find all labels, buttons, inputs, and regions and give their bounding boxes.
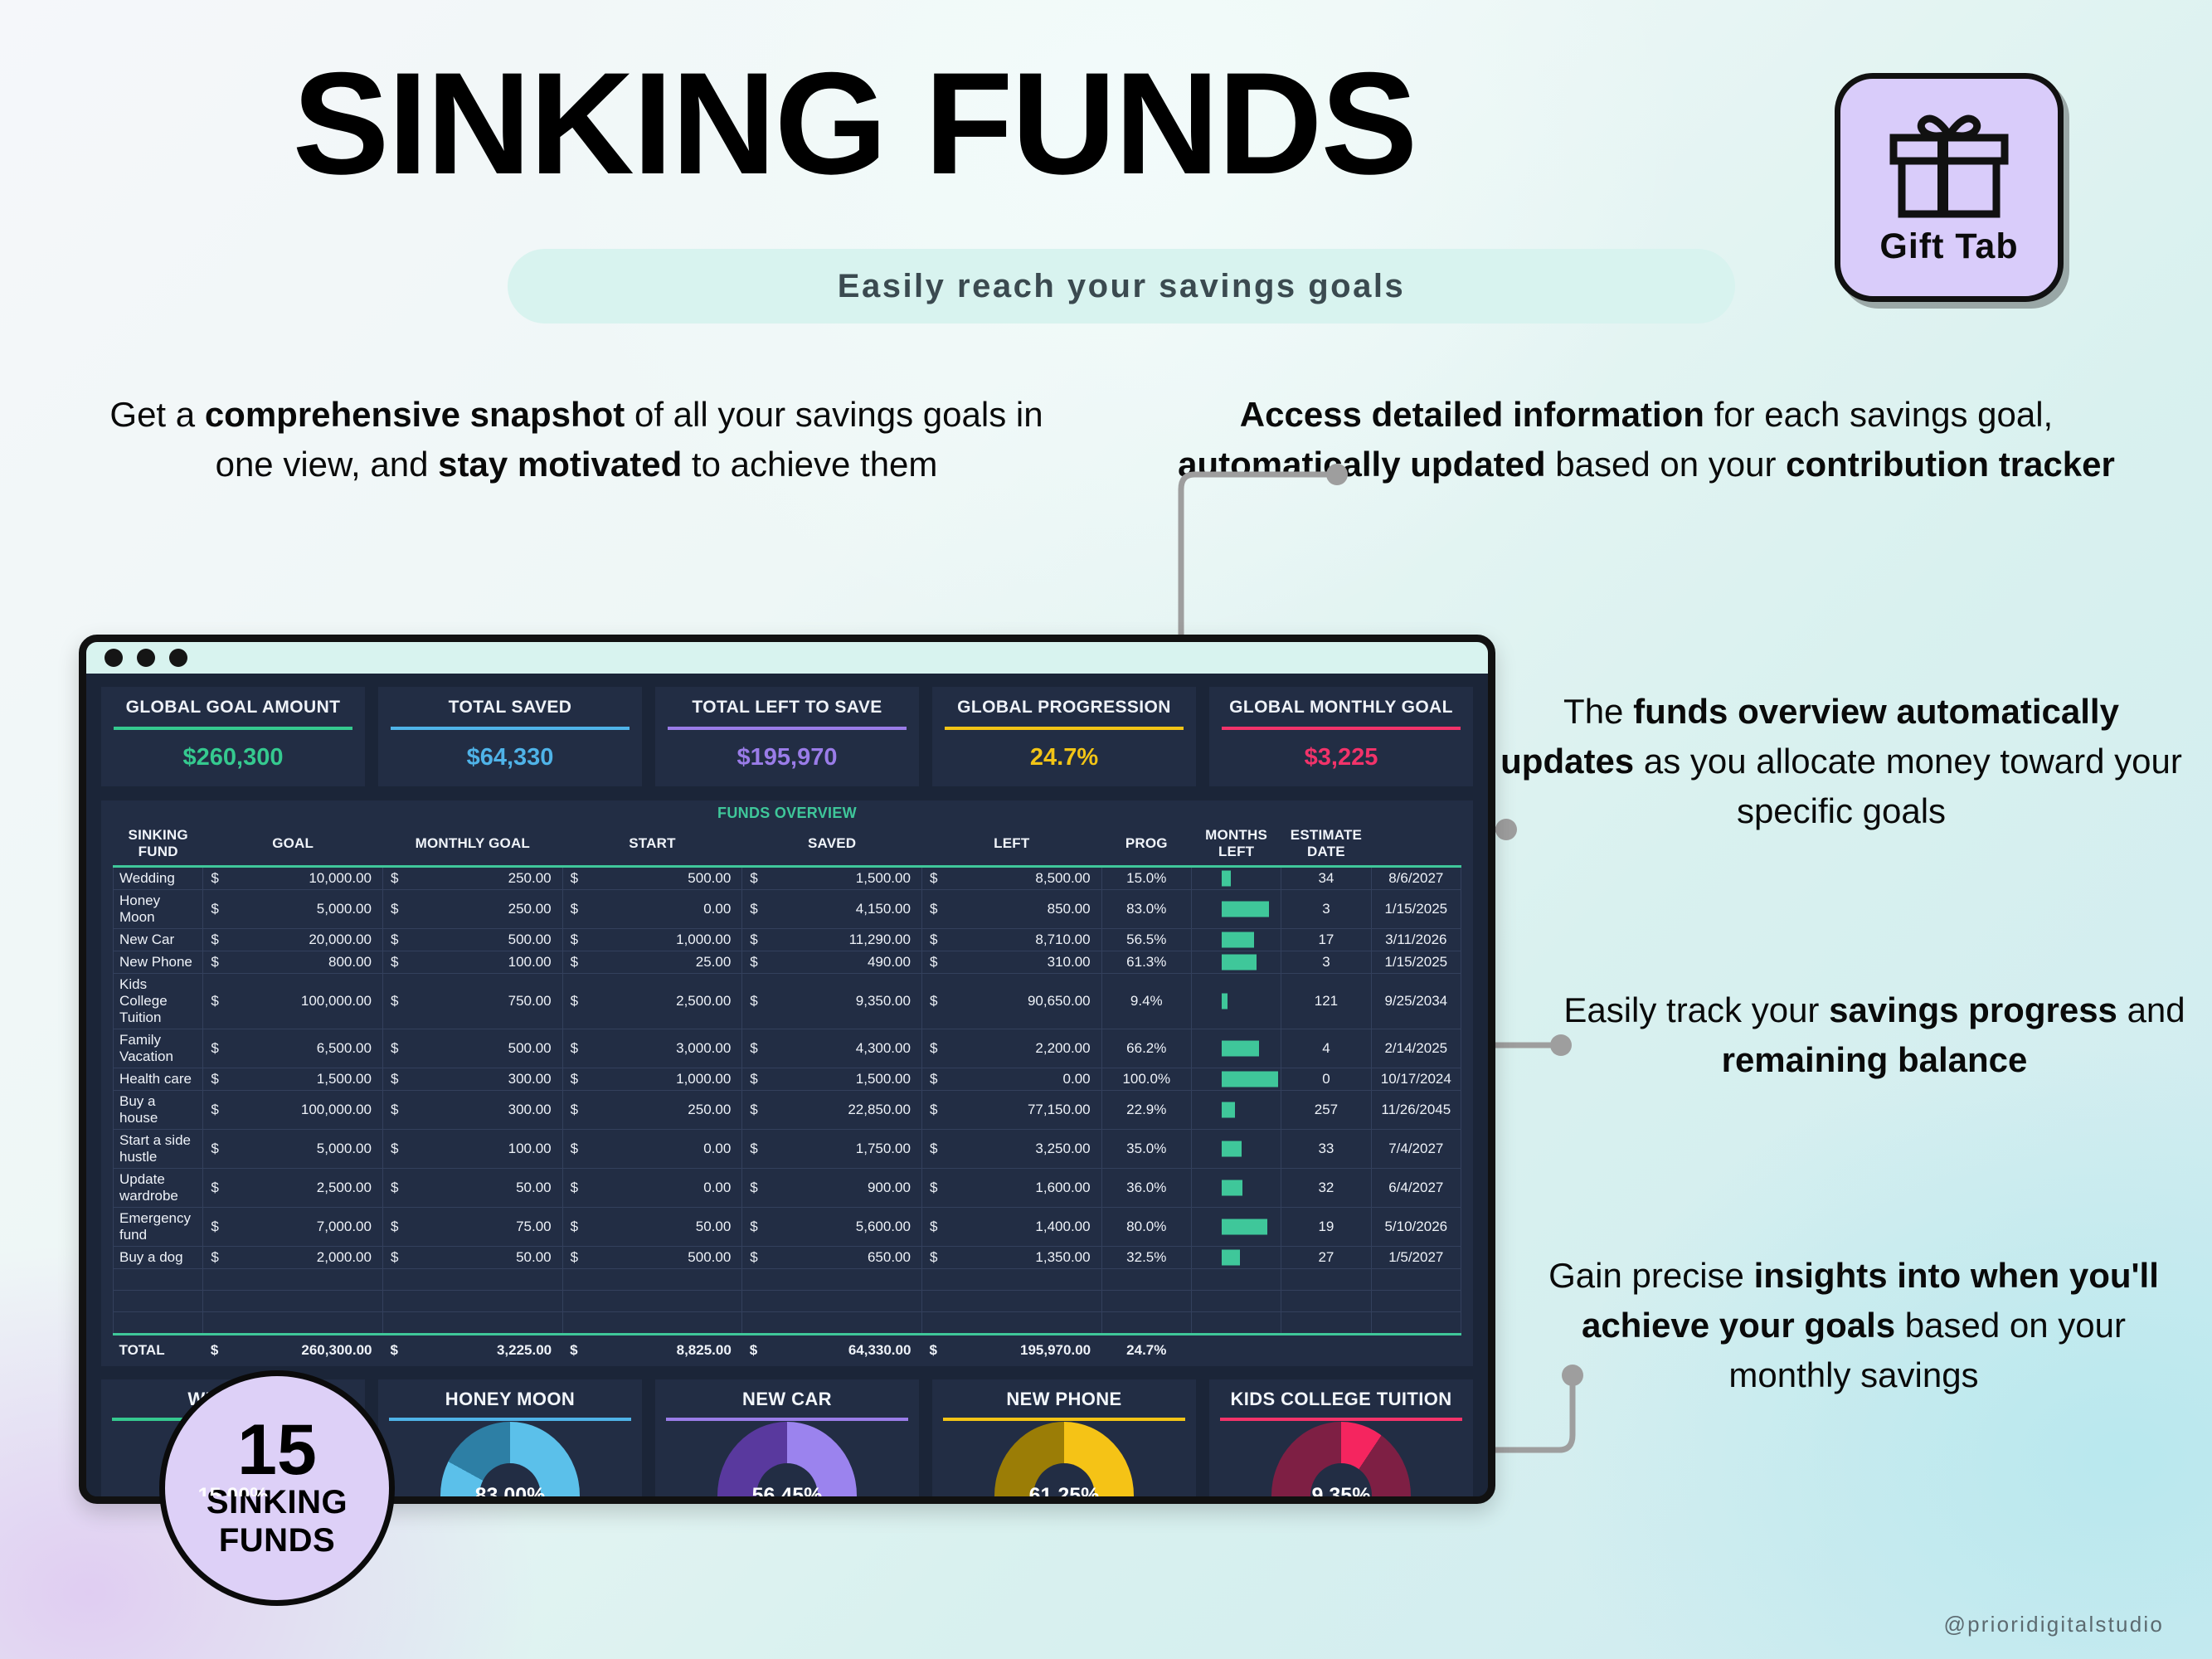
cell-value: 1,000.00 xyxy=(652,1068,741,1091)
currency-symbol: $ xyxy=(921,974,1011,1029)
cell-prog-pct: 32.5% xyxy=(1101,1247,1191,1269)
cell-value: 1,600.00 xyxy=(1012,1169,1101,1208)
total-value: 64,330.00 xyxy=(832,1335,921,1362)
currency-symbol: $ xyxy=(742,1335,832,1362)
currency-symbol: $ xyxy=(742,974,832,1029)
cell-value: 490.00 xyxy=(832,951,921,974)
col-header: GOAL xyxy=(203,824,383,867)
kpi-card-2: TOTAL LEFT TO SAVE$195,970 xyxy=(655,687,919,786)
currency-symbol: $ xyxy=(742,1068,832,1091)
currency-symbol: $ xyxy=(203,1029,293,1068)
currency-symbol: $ xyxy=(562,1130,652,1169)
prog-bar xyxy=(1222,902,1268,917)
cell-value: 2,500.00 xyxy=(652,974,741,1029)
cell-value: 2,000.00 xyxy=(293,1247,382,1269)
donut-card-1: HONEY MOON83.00%GOAL AMOUNT$5,000.00SAVE… xyxy=(378,1379,642,1504)
cell-prog-pct: 9.4% xyxy=(1101,974,1191,1029)
currency-symbol: $ xyxy=(562,1208,652,1247)
currency-symbol: $ xyxy=(382,890,472,929)
donut-chart: 15.00% xyxy=(101,1421,365,1504)
donut-chart: 56.45% xyxy=(655,1421,919,1504)
cell-fund-name: Health care xyxy=(114,1068,203,1091)
kpi-card-1: TOTAL SAVED$64,330 xyxy=(378,687,642,786)
cell-estimate-date: 10/17/2024 xyxy=(1371,1068,1461,1091)
currency-symbol: $ xyxy=(562,890,652,929)
currency-symbol: $ xyxy=(562,1169,652,1208)
kpi-label: GLOBAL GOAL AMOUNT xyxy=(101,687,365,727)
cell-value: 800.00 xyxy=(293,951,382,974)
cell-value: 0.00 xyxy=(1012,1068,1101,1091)
currency-symbol: $ xyxy=(921,1029,1011,1068)
currency-symbol: $ xyxy=(203,1208,293,1247)
cell-fund-name: Honey Moon xyxy=(114,890,203,929)
cell-fund-name: Family Vacation xyxy=(114,1029,203,1068)
subtitle-text: Easily reach your savings goals xyxy=(838,268,1405,305)
donut-chart: 83.00% xyxy=(378,1421,642,1504)
cell-value: 25.00 xyxy=(652,951,741,974)
cell-value: 300.00 xyxy=(473,1091,562,1130)
currency-symbol: $ xyxy=(921,1335,1011,1362)
donut-percent-label: 83.00% xyxy=(378,1421,642,1504)
currency-symbol: $ xyxy=(921,1208,1011,1247)
cell-months-left: 33 xyxy=(1281,1130,1371,1169)
gift-icon xyxy=(1889,108,2010,225)
window-titlebar xyxy=(86,642,1488,674)
cell-prog-bar xyxy=(1191,951,1281,974)
donut-percent-label: 15.00% xyxy=(101,1421,365,1504)
funds-table-body: Wedding$10,000.00$250.00$500.00$1,500.00… xyxy=(114,867,1461,1362)
currency-symbol: $ xyxy=(742,951,832,974)
cell-fund-name: Wedding xyxy=(114,867,203,890)
table-row-empty[interactable] xyxy=(114,1291,1461,1312)
donut-percent-label: 56.45% xyxy=(655,1421,919,1504)
cell-months-left: 3 xyxy=(1281,890,1371,929)
total-value: 3,225.00 xyxy=(473,1335,562,1362)
col-header: LEFT xyxy=(921,824,1101,867)
cell-value: 1,400.00 xyxy=(1012,1208,1101,1247)
kpi-value: $260,300 xyxy=(101,730,365,786)
cell-prog-pct: 35.0% xyxy=(1101,1130,1191,1169)
prog-bar xyxy=(1222,932,1253,948)
cell-value: 250.00 xyxy=(473,890,562,929)
kpi-row: GLOBAL GOAL AMOUNT$260,300TOTAL SAVED$64… xyxy=(101,687,1473,786)
cell-prog-pct: 15.0% xyxy=(1101,867,1191,890)
cell-prog-pct: 83.0% xyxy=(1101,890,1191,929)
cell-value: 0.00 xyxy=(652,890,741,929)
currency-symbol: $ xyxy=(742,1208,832,1247)
donut-chart: 61.25% xyxy=(932,1421,1196,1504)
cell-value: 2,200.00 xyxy=(1012,1029,1101,1068)
table-row[interactable]: New Phone$800.00$100.00$25.00$490.00$310… xyxy=(114,951,1461,974)
cell-fund-name: Kids College Tuition xyxy=(114,974,203,1029)
currency-symbol: $ xyxy=(203,1130,293,1169)
cell-value: 75.00 xyxy=(473,1208,562,1247)
currency-symbol: $ xyxy=(921,867,1011,890)
currency-symbol: $ xyxy=(562,1091,652,1130)
currency-symbol: $ xyxy=(382,867,472,890)
kpi-label: TOTAL SAVED xyxy=(378,687,642,727)
currency-symbol: $ xyxy=(562,867,652,890)
cell-prog-pct: 61.3% xyxy=(1101,951,1191,974)
cell-months-left: 27 xyxy=(1281,1247,1371,1269)
kpi-card-3: GLOBAL PROGRESSION24.7% xyxy=(932,687,1196,786)
cell-estimate-date: 1/15/2025 xyxy=(1371,890,1461,929)
callout-insights: Gain precise insights into when you'll a… xyxy=(1518,1251,2190,1400)
currency-symbol: $ xyxy=(203,974,293,1029)
col-header: MONTHS LEFT xyxy=(1191,824,1281,867)
cell-value: 11,290.00 xyxy=(832,929,921,951)
cell-prog-bar xyxy=(1191,1247,1281,1269)
cell-fund-name: Emergency fund xyxy=(114,1208,203,1247)
donut-card-2: NEW CAR56.45%GOAL AMOUNT$20,000.00SAVED$… xyxy=(655,1379,919,1504)
currency-symbol: $ xyxy=(921,1130,1011,1169)
currency-symbol: $ xyxy=(382,1208,472,1247)
currency-symbol: $ xyxy=(742,1130,832,1169)
cell-value: 1,350.00 xyxy=(1012,1247,1101,1269)
col-header: MONTHLY GOAL xyxy=(382,824,562,867)
cell-months-left: 34 xyxy=(1281,867,1371,890)
currency-symbol: $ xyxy=(382,974,472,1029)
cell-prog-bar xyxy=(1191,1169,1281,1208)
cell-value: 500.00 xyxy=(473,1029,562,1068)
cell-estimate-date: 3/11/2026 xyxy=(1371,929,1461,951)
currency-symbol: $ xyxy=(742,1091,832,1130)
currency-symbol: $ xyxy=(562,974,652,1029)
count-line-2: FUNDS xyxy=(219,1522,335,1560)
funds-table-head: SINKING FUNDGOALMONTHLY GOALSTARTSAVEDLE… xyxy=(114,824,1461,867)
table-row[interactable]: Family Vacation$6,500.00$500.00$3,000.00… xyxy=(114,1029,1461,1068)
currency-symbol: $ xyxy=(382,1247,472,1269)
total-prog: 24.7% xyxy=(1101,1335,1191,1362)
cell-prog-bar xyxy=(1191,1091,1281,1130)
cell-value: 300.00 xyxy=(473,1068,562,1091)
cell-months-left: 121 xyxy=(1281,974,1371,1029)
table-row[interactable]: Kids College Tuition$100,000.00$750.00$2… xyxy=(114,974,1461,1029)
cell-estimate-date: 1/15/2025 xyxy=(1371,951,1461,974)
cell-months-left: 3 xyxy=(1281,951,1371,974)
cell-estimate-date: 2/14/2025 xyxy=(1371,1029,1461,1068)
cell-value: 5,600.00 xyxy=(832,1208,921,1247)
cell-prog-bar xyxy=(1191,1029,1281,1068)
cell-value: 500.00 xyxy=(652,867,741,890)
currency-symbol: $ xyxy=(382,1068,472,1091)
cell-value: 500.00 xyxy=(652,1247,741,1269)
cell-value: 750.00 xyxy=(473,974,562,1029)
cell-value: 4,300.00 xyxy=(832,1029,921,1068)
cell-fund-name: New Car xyxy=(114,929,203,951)
cell-value: 1,500.00 xyxy=(293,1068,382,1091)
currency-symbol: $ xyxy=(921,1068,1011,1091)
currency-symbol: $ xyxy=(203,890,293,929)
prog-bar xyxy=(1222,1219,1266,1235)
cell-estimate-date: 7/4/2027 xyxy=(1371,1130,1461,1169)
table-total-row: TOTAL$260,300.00$3,225.00$8,825.00$64,33… xyxy=(114,1335,1461,1362)
cell-value: 50.00 xyxy=(473,1169,562,1208)
donut-chart: 9.35% xyxy=(1209,1421,1473,1504)
donut-title: HONEY MOON xyxy=(378,1379,642,1418)
cell-prog-bar xyxy=(1191,867,1281,890)
currency-symbol: $ xyxy=(921,1091,1011,1130)
currency-symbol: $ xyxy=(203,867,293,890)
total-label: TOTAL xyxy=(114,1335,203,1362)
prog-bar xyxy=(1222,1102,1234,1118)
kpi-value: $64,330 xyxy=(378,730,642,786)
prog-bar xyxy=(1222,1250,1240,1266)
currency-symbol: $ xyxy=(562,1068,652,1091)
prog-bar xyxy=(1222,871,1230,887)
prog-bar xyxy=(1222,994,1227,1010)
cell-months-left: 257 xyxy=(1281,1091,1371,1130)
currency-symbol: $ xyxy=(562,1335,652,1362)
kpi-label: GLOBAL PROGRESSION xyxy=(932,687,1196,727)
cell-value: 1,500.00 xyxy=(832,1068,921,1091)
cell-value: 7,000.00 xyxy=(293,1208,382,1247)
callout-funds-overview: The funds overview automatically updates… xyxy=(1493,687,2190,836)
cell-prog-bar xyxy=(1191,890,1281,929)
cell-prog-pct: 22.9% xyxy=(1101,1091,1191,1130)
kpi-card-4: GLOBAL MONTHLY GOAL$3,225 xyxy=(1209,687,1473,786)
cell-estimate-date: 9/25/2034 xyxy=(1371,974,1461,1029)
table-row[interactable]: Honey Moon$5,000.00$250.00$0.00$4,150.00… xyxy=(114,890,1461,929)
cell-value: 250.00 xyxy=(473,867,562,890)
currency-symbol: $ xyxy=(382,929,472,951)
cell-value: 2,500.00 xyxy=(293,1169,382,1208)
currency-symbol: $ xyxy=(562,951,652,974)
prog-bar xyxy=(1222,1180,1242,1196)
currency-symbol: $ xyxy=(562,1247,652,1269)
cell-value: 1,750.00 xyxy=(832,1130,921,1169)
window-minimize-dot[interactable] xyxy=(137,649,155,667)
cell-months-left: 32 xyxy=(1281,1169,1371,1208)
donut-card-3: NEW PHONE61.25%GOAL AMOUNT$800.00SAVED$4… xyxy=(932,1379,1196,1504)
cell-prog-pct: 36.0% xyxy=(1101,1169,1191,1208)
cell-prog-bar xyxy=(1191,1068,1281,1091)
prog-bar xyxy=(1222,955,1256,971)
cell-fund-name: Buy a house xyxy=(114,1091,203,1130)
window-maximize-dot[interactable] xyxy=(169,649,187,667)
cell-estimate-date: 8/6/2027 xyxy=(1371,867,1461,890)
table-row[interactable]: Buy a house$100,000.00$300.00$250.00$22,… xyxy=(114,1091,1461,1130)
currency-symbol: $ xyxy=(203,1335,293,1362)
cell-value: 77,150.00 xyxy=(1012,1091,1101,1130)
currency-symbol: $ xyxy=(382,1130,472,1169)
currency-symbol: $ xyxy=(562,1029,652,1068)
currency-symbol: $ xyxy=(382,1091,472,1130)
cell-estimate-date: 5/10/2026 xyxy=(1371,1208,1461,1247)
currency-symbol: $ xyxy=(203,929,293,951)
cell-value: 8,500.00 xyxy=(1012,867,1101,890)
kpi-value: $3,225 xyxy=(1209,730,1473,786)
cell-prog-pct: 100.0% xyxy=(1101,1068,1191,1091)
cell-months-left: 0 xyxy=(1281,1068,1371,1091)
donut-percent-label: 9.35% xyxy=(1209,1421,1473,1504)
currency-symbol: $ xyxy=(382,951,472,974)
cell-prog-pct: 66.2% xyxy=(1101,1029,1191,1068)
funds-table: SINKING FUNDGOALMONTHLY GOALSTARTSAVEDLE… xyxy=(113,824,1461,1361)
cell-value: 20,000.00 xyxy=(293,929,382,951)
cell-estimate-date: 1/5/2027 xyxy=(1371,1247,1461,1269)
cell-value: 3,000.00 xyxy=(652,1029,741,1068)
cell-value: 22,850.00 xyxy=(832,1091,921,1130)
currency-symbol: $ xyxy=(203,951,293,974)
cell-value: 10,000.00 xyxy=(293,867,382,890)
currency-symbol: $ xyxy=(921,951,1011,974)
cell-prog-pct: 56.5% xyxy=(1101,929,1191,951)
currency-symbol: $ xyxy=(742,1247,832,1269)
donut-title: NEW CAR xyxy=(655,1379,919,1418)
cell-value: 250.00 xyxy=(652,1091,741,1130)
cell-prog-bar xyxy=(1191,1208,1281,1247)
callout-snapshot: Get a comprehensive snapshot of all your… xyxy=(108,390,1045,489)
cell-value: 4,150.00 xyxy=(832,890,921,929)
currency-symbol: $ xyxy=(382,1169,472,1208)
kpi-card-0: GLOBAL GOAL AMOUNT$260,300 xyxy=(101,687,365,786)
page-title: SINKING FUNDS xyxy=(0,51,1709,197)
cell-estimate-date: 6/4/2027 xyxy=(1371,1169,1461,1208)
cell-value: 500.00 xyxy=(473,929,562,951)
table-row[interactable]: Update wardrobe$2,500.00$50.00$0.00$900.… xyxy=(114,1169,1461,1208)
currency-symbol: $ xyxy=(921,929,1011,951)
window-close-dot[interactable] xyxy=(105,649,123,667)
col-header: PROG xyxy=(1101,824,1191,867)
cell-prog-bar xyxy=(1191,1130,1281,1169)
cell-prog-pct: 80.0% xyxy=(1101,1208,1191,1247)
currency-symbol: $ xyxy=(203,1169,293,1208)
kpi-value: 24.7% xyxy=(932,730,1196,786)
cell-value: 6,500.00 xyxy=(293,1029,382,1068)
cell-value: 5,000.00 xyxy=(293,890,382,929)
prog-bar xyxy=(1222,1072,1278,1087)
cell-value: 850.00 xyxy=(1012,890,1101,929)
cell-value: 0.00 xyxy=(652,1130,741,1169)
currency-symbol: $ xyxy=(562,929,652,951)
table-row[interactable]: Start a side hustle$5,000.00$100.00$0.00… xyxy=(114,1130,1461,1169)
cell-value: 0.00 xyxy=(652,1169,741,1208)
table-row[interactable]: Buy a dog$2,000.00$50.00$500.00$650.00$1… xyxy=(114,1247,1461,1269)
cell-prog-bar xyxy=(1191,974,1281,1029)
donut-percent-label: 61.25% xyxy=(932,1421,1196,1504)
table-row[interactable]: Health care$1,500.00$300.00$1,000.00$1,5… xyxy=(114,1068,1461,1091)
kpi-label: GLOBAL MONTHLY GOAL xyxy=(1209,687,1473,727)
total-value: 8,825.00 xyxy=(652,1335,741,1362)
total-value: 260,300.00 xyxy=(293,1335,382,1362)
cell-value: 50.00 xyxy=(652,1208,741,1247)
currency-symbol: $ xyxy=(742,890,832,929)
col-header: SINKING FUND xyxy=(114,824,203,867)
table-row-empty[interactable] xyxy=(114,1269,1461,1291)
cell-value: 100.00 xyxy=(473,951,562,974)
donut-title: KIDS COLLEGE TUITION xyxy=(1209,1379,1473,1418)
cell-value: 100,000.00 xyxy=(293,974,382,1029)
total-value: 195,970.00 xyxy=(1012,1335,1101,1362)
cell-value: 900.00 xyxy=(832,1169,921,1208)
prog-bar xyxy=(1222,1041,1259,1057)
currency-symbol: $ xyxy=(742,929,832,951)
cell-estimate-date: 11/26/2045 xyxy=(1371,1091,1461,1130)
col-header: START xyxy=(562,824,742,867)
cell-value: 3,250.00 xyxy=(1012,1130,1101,1169)
cell-months-left: 17 xyxy=(1281,929,1371,951)
cell-fund-name: Start a side hustle xyxy=(114,1130,203,1169)
prog-bar xyxy=(1222,1141,1242,1157)
subtitle-pill: Easily reach your savings goals xyxy=(508,249,1735,324)
currency-symbol: $ xyxy=(742,867,832,890)
cell-value: 9,350.00 xyxy=(832,974,921,1029)
currency-symbol: $ xyxy=(742,1169,832,1208)
currency-symbol: $ xyxy=(921,890,1011,929)
table-row[interactable]: Wedding$10,000.00$250.00$500.00$1,500.00… xyxy=(114,867,1461,890)
donut-title: NEW PHONE xyxy=(932,1379,1196,1418)
cell-months-left: 4 xyxy=(1281,1029,1371,1068)
cell-value: 100,000.00 xyxy=(293,1091,382,1130)
cell-value: 100.00 xyxy=(473,1130,562,1169)
currency-symbol: $ xyxy=(203,1247,293,1269)
cell-prog-bar xyxy=(1191,929,1281,951)
currency-symbol: $ xyxy=(203,1068,293,1091)
currency-symbol: $ xyxy=(203,1091,293,1130)
cell-fund-name: New Phone xyxy=(114,951,203,974)
table-row[interactable]: Emergency fund$7,000.00$75.00$50.00$5,60… xyxy=(114,1208,1461,1247)
funds-overview-title: FUNDS OVERVIEW xyxy=(113,800,1461,824)
gift-tab-badge[interactable]: Gift Tab xyxy=(1835,73,2064,302)
footer-handle: @prioridigitalstudio xyxy=(1944,1612,2165,1637)
cell-value: 310.00 xyxy=(1012,951,1101,974)
cell-value: 650.00 xyxy=(832,1247,921,1269)
cell-months-left: 19 xyxy=(1281,1208,1371,1247)
cell-value: 8,710.00 xyxy=(1012,929,1101,951)
cell-value: 1,000.00 xyxy=(652,929,741,951)
col-header: SAVED xyxy=(742,824,922,867)
cell-fund-name: Buy a dog xyxy=(114,1247,203,1269)
funds-overview-panel: FUNDS OVERVIEW SINKING FUNDGOALMONTHLY G… xyxy=(101,800,1473,1366)
currency-symbol: $ xyxy=(921,1169,1011,1208)
donut-card-4: KIDS COLLEGE TUITION9.35%GOAL AMOUNT$100… xyxy=(1209,1379,1473,1504)
cell-value: 90,650.00 xyxy=(1012,974,1101,1029)
callout-track-progress: Easily track your savings progress and r… xyxy=(1559,985,2190,1085)
currency-symbol: $ xyxy=(921,1247,1011,1269)
cell-value: 1,500.00 xyxy=(832,867,921,890)
table-row[interactable]: New Car$20,000.00$500.00$1,000.00$11,290… xyxy=(114,929,1461,951)
currency-symbol: $ xyxy=(382,1029,472,1068)
kpi-value: $195,970 xyxy=(655,730,919,786)
cell-value: 50.00 xyxy=(473,1247,562,1269)
cell-fund-name: Update wardrobe xyxy=(114,1169,203,1208)
col-header: ESTIMATE DATE xyxy=(1281,824,1371,867)
kpi-label: TOTAL LEFT TO SAVE xyxy=(655,687,919,727)
table-row-empty[interactable] xyxy=(114,1312,1461,1335)
currency-symbol: $ xyxy=(742,1029,832,1068)
cell-value: 5,000.00 xyxy=(293,1130,382,1169)
currency-symbol: $ xyxy=(382,1335,472,1362)
gift-tab-label: Gift Tab xyxy=(1879,226,2018,267)
